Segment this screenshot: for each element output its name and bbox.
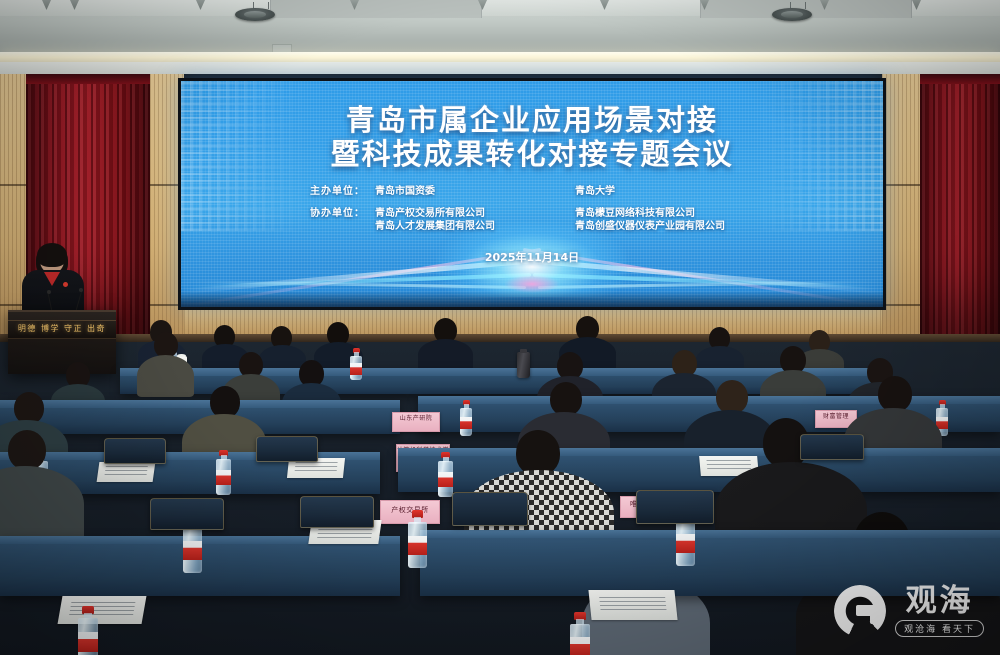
water-bottle bbox=[350, 348, 362, 380]
chair bbox=[256, 436, 318, 462]
host-row: 主办单位： 青岛市国资委 青岛大学 bbox=[181, 185, 883, 198]
paper-lines bbox=[706, 460, 751, 471]
coorganizer-left-2: 青岛人才发展集团有限公司 bbox=[375, 220, 575, 233]
bottle-body bbox=[216, 459, 231, 495]
chair bbox=[150, 498, 224, 530]
stage-curtain-right bbox=[920, 74, 1000, 340]
water-bottle bbox=[216, 450, 231, 496]
coorganizer-right-2: 青岛创盛仪器仪表产业园有限公司 bbox=[575, 220, 785, 233]
table-top-edge bbox=[0, 400, 400, 408]
name-card-text: 财富管理 bbox=[816, 411, 856, 420]
host-org-right: 青岛大学 bbox=[575, 185, 785, 198]
table-name-card: 山东产研院 bbox=[392, 412, 440, 432]
screen-date: 2025年11月14日 bbox=[181, 249, 883, 265]
chair bbox=[452, 492, 528, 526]
curtain-valance bbox=[920, 74, 1000, 84]
curtain-valance bbox=[26, 74, 150, 84]
chair bbox=[636, 490, 714, 524]
speaker-stem bbox=[805, 2, 806, 9]
ceiling-speaker-icon bbox=[772, 8, 812, 21]
coorganizer-row: 协办单位： 青岛产权交易所有限公司 青岛人才发展集团有限公司 青岛檬豆网络科技有… bbox=[181, 207, 883, 233]
wall-band bbox=[0, 62, 1000, 74]
head bbox=[878, 376, 912, 412]
table-top-edge bbox=[398, 448, 1000, 456]
water-bottle bbox=[408, 510, 427, 570]
wood-acoustic-panel bbox=[882, 74, 920, 340]
podium: 明德 博学 守正 出奇 bbox=[8, 310, 116, 374]
table-top-edge bbox=[418, 396, 1000, 404]
bottle-body bbox=[460, 408, 472, 436]
wood-seam bbox=[882, 304, 920, 306]
conference-hall-photo: 青岛市属企业应用场景对接 暨科技成果转化对接专题会议 主办单位： 青岛市国资委 … bbox=[0, 0, 1000, 655]
head bbox=[716, 380, 748, 414]
ceiling-speaker-icon bbox=[235, 8, 275, 21]
chair bbox=[800, 434, 864, 460]
water-bottle bbox=[438, 452, 453, 498]
screen-bottom-shade bbox=[181, 291, 883, 307]
lapel-pin bbox=[63, 282, 68, 287]
host-label: 主办单位： bbox=[279, 185, 375, 198]
name-card-text: 山东产研院 bbox=[393, 413, 439, 422]
led-screen: 青岛市属企业应用场景对接 暨科技成果转化对接专题会议 主办单位： 青岛市国资委 … bbox=[178, 78, 886, 310]
led-screen-content: 青岛市属企业应用场景对接 暨科技成果转化对接专题会议 主办单位： 青岛市国资委 … bbox=[181, 81, 883, 307]
bottle-body bbox=[183, 527, 202, 573]
bottle-label bbox=[350, 363, 362, 375]
head bbox=[8, 430, 46, 470]
coorganizer-label: 协办单位： bbox=[279, 207, 375, 233]
hair bbox=[37, 243, 67, 267]
microphone-head-icon bbox=[47, 290, 51, 294]
water-bottle bbox=[570, 612, 590, 655]
bottle-body bbox=[350, 356, 362, 380]
wood-seam bbox=[882, 184, 920, 186]
screen-organizers: 主办单位： 青岛市国资委 青岛大学 协办单位： 青岛产权交易所有限公司 青岛人才… bbox=[181, 185, 883, 233]
water-bottle bbox=[460, 400, 472, 436]
paper-lines bbox=[599, 597, 666, 614]
bottle-body bbox=[438, 461, 453, 497]
bottle-body bbox=[408, 522, 427, 568]
host-org-left: 青岛市国资委 bbox=[375, 185, 575, 198]
watermark-brand: 观海 bbox=[906, 585, 974, 617]
thermos-flask bbox=[517, 352, 530, 378]
speaker-stem bbox=[268, 2, 269, 9]
bottle-label bbox=[408, 536, 427, 555]
chair bbox=[104, 438, 166, 464]
microphone-head-icon bbox=[79, 288, 83, 292]
handout-paper bbox=[97, 462, 156, 482]
shoulders bbox=[137, 355, 194, 397]
shoulders bbox=[418, 339, 473, 371]
screen-title-line1: 青岛市属企业应用场景对接 bbox=[181, 103, 883, 137]
handout-paper bbox=[58, 596, 147, 624]
bottle-label bbox=[460, 417, 472, 429]
bottle-label bbox=[676, 534, 695, 553]
bottle-body bbox=[570, 624, 590, 655]
water-bottle bbox=[78, 606, 98, 655]
speaker-at-podium bbox=[22, 246, 84, 318]
bottle-label bbox=[78, 632, 98, 652]
logo-stem bbox=[870, 605, 880, 624]
coorganizer-right-1: 青岛檬豆网络科技有限公司 bbox=[575, 207, 785, 220]
bottle-label bbox=[438, 472, 453, 487]
bottle-label bbox=[216, 470, 231, 485]
coorganizer-left-1: 青岛产权交易所有限公司 bbox=[375, 207, 575, 220]
handout-paper bbox=[588, 590, 677, 620]
watermark-g-logo-icon bbox=[834, 585, 886, 637]
wood-seam bbox=[0, 184, 26, 186]
bottle-body bbox=[78, 618, 98, 655]
screen-title: 青岛市属企业应用场景对接 暨科技成果转化对接专题会议 bbox=[181, 103, 883, 171]
screen-title-line2: 暨科技成果转化对接专题会议 bbox=[181, 137, 883, 171]
podium-motto-text: 明德 博学 守正 出奇 bbox=[8, 320, 116, 337]
paper-lines bbox=[294, 462, 338, 473]
watermark-tagline: 观沧海 看天下 bbox=[895, 620, 984, 637]
photo-watermark: 观海 观沧海 看天下 bbox=[834, 585, 984, 637]
paper-lines bbox=[104, 466, 148, 477]
bottle-label bbox=[183, 541, 202, 560]
chair bbox=[300, 496, 374, 528]
table-top-edge bbox=[420, 530, 1000, 538]
table-top-edge bbox=[120, 368, 880, 376]
ceiling-light-strip bbox=[0, 52, 1000, 62]
head bbox=[550, 382, 582, 416]
bottle-body bbox=[676, 520, 695, 566]
bottle-label bbox=[570, 637, 590, 655]
ceiling-panel bbox=[270, 0, 482, 18]
